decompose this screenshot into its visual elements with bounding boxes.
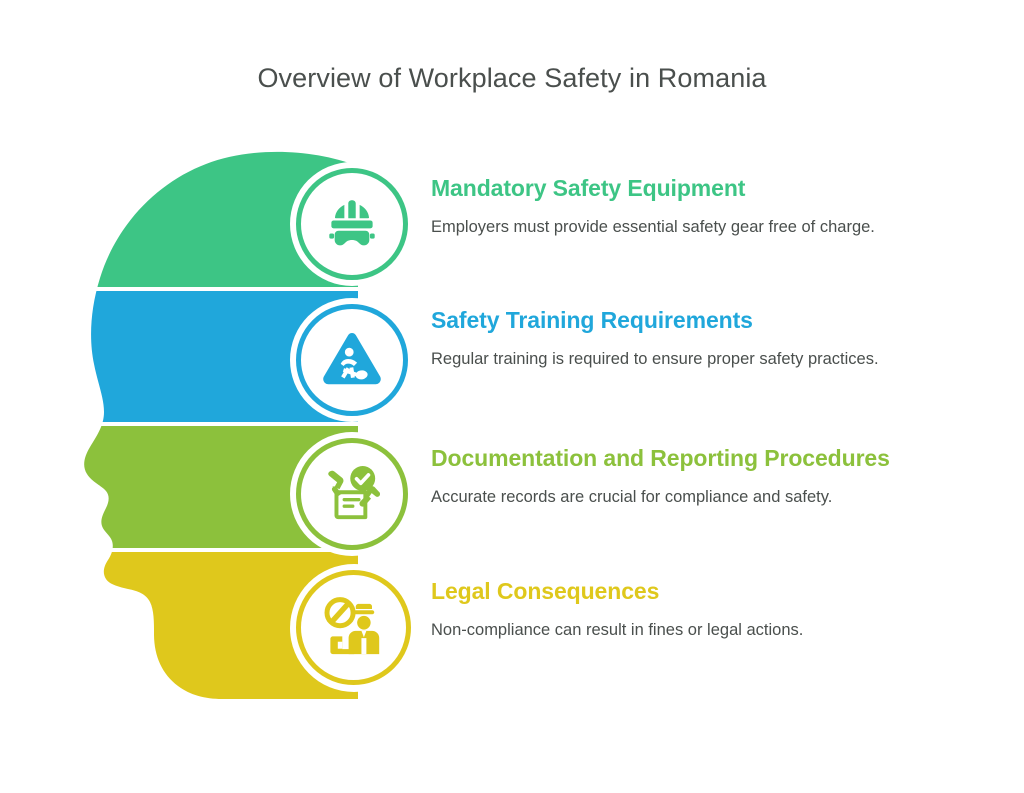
construction-warning-triangle-icon: [318, 326, 386, 394]
section-block-2: Safety Training Requirements Regular tra…: [431, 307, 971, 373]
section-block-3: Documentation and Reporting Procedures A…: [431, 445, 971, 511]
section-block-4: Legal Consequences Non-compliance can re…: [431, 578, 971, 644]
section-body-1: Employers must provide essential safety …: [431, 215, 926, 240]
officer-prohibition-icon: [318, 592, 390, 664]
section-body-3: Accurate records are crucial for complia…: [431, 485, 971, 510]
section-heading-4: Legal Consequences: [431, 578, 971, 604]
icon-medallion-1[interactable]: [296, 168, 408, 280]
section-heading-3: Documentation and Reporting Procedures: [431, 445, 971, 471]
hard-hat-icon: [319, 191, 385, 257]
section-heading-2: Safety Training Requirements: [431, 307, 971, 333]
section-body-2: Regular training is required to ensure p…: [431, 347, 926, 372]
section-block-1: Mandatory Safety Equipment Employers mus…: [431, 175, 971, 241]
icon-medallion-4[interactable]: [296, 570, 411, 685]
page-title: Overview of Workplace Safety in Romania: [0, 63, 1024, 94]
section-body-4: Non-compliance can result in fines or le…: [431, 618, 971, 643]
icon-medallion-3[interactable]: [296, 438, 408, 550]
document-checkmark-hands-icon: [317, 459, 387, 529]
icon-medallion-2[interactable]: [296, 304, 408, 416]
section-heading-1: Mandatory Safety Equipment: [431, 175, 971, 201]
